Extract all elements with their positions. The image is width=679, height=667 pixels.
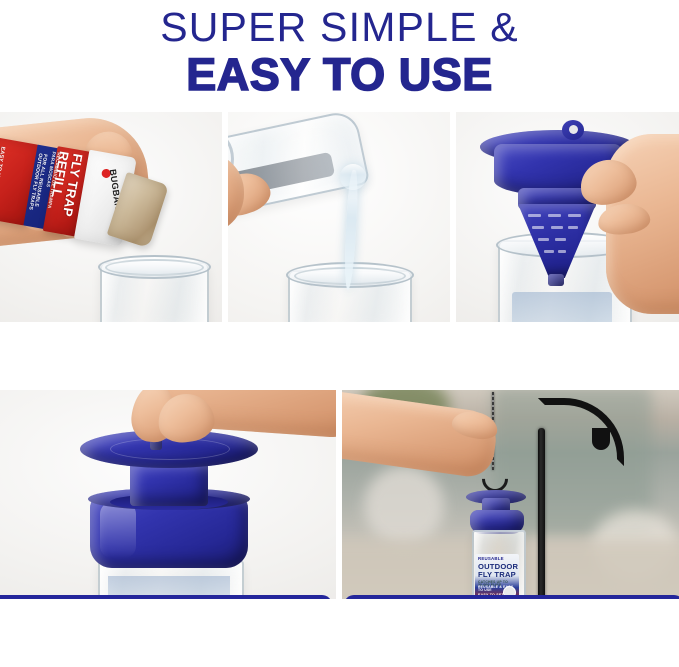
trap-label-5: REUSABLE OUTDOOR FLY TRAP CATCHES UP TO … xyxy=(475,554,519,599)
step-panel-4: 4 PULL OPEN THE TOP TAB TO OPEN THE TRAP xyxy=(0,390,336,599)
trap-top-stem xyxy=(130,462,208,506)
infographic-root: SUPER SIMPLE & EASY TO USE EASY TO USE J… xyxy=(0,0,679,667)
step-2-photo xyxy=(228,112,450,322)
step-5-photo: REUSABLE OUTDOOR FLY TRAP CATCHES UP TO … xyxy=(342,390,679,599)
funnel-hole xyxy=(548,214,561,217)
step-panel-5: REUSABLE OUTDOOR FLY TRAP CATCHES UP TO … xyxy=(342,390,679,599)
funnel-hole xyxy=(551,226,563,229)
funnel-hole xyxy=(528,214,541,217)
funnel-hole xyxy=(538,238,549,241)
jar-rim-inner xyxy=(105,259,204,276)
step-5-caption: 5 HANG OR PLACE TRAP OUTDOORS AT LEAST 2… xyxy=(344,595,679,599)
funnel-hole xyxy=(568,226,578,229)
title-line-1: SUPER SIMPLE & xyxy=(160,4,519,50)
lid-hang-hole xyxy=(569,125,578,134)
jar-inner-label xyxy=(512,292,612,322)
funnel-hole xyxy=(558,250,566,253)
step-3-photo xyxy=(456,112,679,322)
trap-label-outdoor: OUTDOOR xyxy=(478,563,518,571)
step-4-photo xyxy=(0,390,336,599)
funnel-hole xyxy=(568,214,581,217)
patio-chair xyxy=(364,466,444,546)
shepherds-hook-tip xyxy=(592,428,610,450)
step-4-caption: 4 PULL OPEN THE TOP TAB TO OPEN THE TRAP xyxy=(0,595,332,599)
funnel-tip xyxy=(548,274,564,286)
funnel-hole xyxy=(532,226,544,229)
step-panel-1: EASY TO USE JUST ADD WATER WIPES FLIES A… xyxy=(0,112,222,322)
trap-label-flytrap: FLY TRAP xyxy=(478,571,516,579)
title-line-2: EASY TO USE xyxy=(186,50,492,100)
water-stream-splash xyxy=(340,164,366,190)
trap-top-tab-ring xyxy=(110,438,230,460)
trap-collar-shine xyxy=(100,502,136,558)
step-1-photo: EASY TO USE JUST ADD WATER WIPES FLIES A… xyxy=(0,112,222,322)
funnel-hole xyxy=(555,238,566,241)
step-panel-2: 2 ADD WARM WATER TO FILL LINE xyxy=(228,112,450,322)
page-title: SUPER SIMPLE & EASY TO USE xyxy=(0,0,679,108)
funnel-hole xyxy=(544,250,554,253)
step-panel-3: 3 REPLACE TOP SECURELY xyxy=(456,112,679,322)
trap-label-reusable: REUSABLE xyxy=(478,557,504,561)
